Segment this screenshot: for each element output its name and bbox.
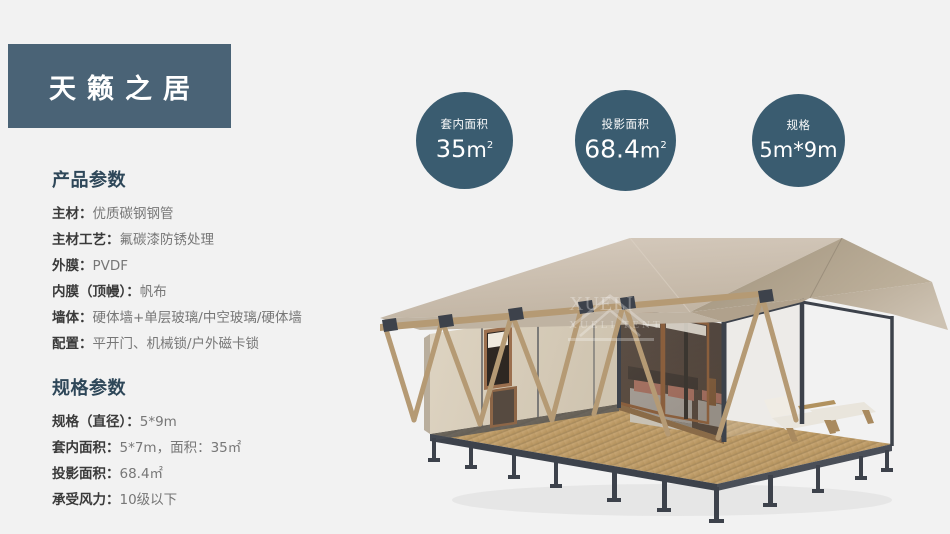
- spec-key: 主材：: [52, 206, 93, 222]
- spec-key: 内膜（顶幔）：: [52, 284, 140, 300]
- badge-dimensions: 规格 5m*9m: [752, 94, 845, 187]
- spec-key: 主材工艺：: [52, 232, 120, 248]
- badge-value: 35m2: [436, 132, 493, 164]
- spec-value: 5*7m，面积：35㎡: [120, 440, 242, 456]
- badge-interior-area: 套内面积 35m2: [416, 92, 513, 189]
- spec-key: 规格（直径）：: [52, 414, 140, 430]
- spec-value: PVDF: [93, 258, 129, 274]
- badge-value: 5m*9m: [759, 133, 837, 164]
- spec-row: 外膜：PVDF: [52, 253, 382, 279]
- spec-key: 外膜：: [52, 258, 93, 274]
- spec-group-specification: 规格参数 规格（直径）：5*9m 套内面积：5*7m，面积：35㎡ 投影面积：6…: [52, 374, 382, 513]
- spec-row: 配置：平开门、机械锁/户外磁卡锁: [52, 331, 382, 357]
- badge-number: 5m*9m: [759, 138, 837, 162]
- spec-key: 套内面积：: [52, 440, 120, 456]
- page-root: 天籁之居 产品参数 主材：优质碳钢钢管 主材工艺：氟碳漆防锈处理 外膜：PVDF…: [0, 0, 950, 534]
- product-render-3d: XUELI XUELI TENT: [372, 238, 950, 534]
- spec-key: 承受风力：: [52, 492, 120, 508]
- badge-label: 投影面积: [602, 117, 650, 131]
- spec-value: 平开门、机械锁/户外磁卡锁: [93, 336, 260, 352]
- spec-key: 墙体：: [52, 310, 93, 326]
- spec-row: 主材：优质碳钢钢管: [52, 201, 382, 227]
- badge-number: 35: [436, 135, 467, 163]
- badge-superscript: 2: [660, 140, 666, 151]
- spec-value: 68.4㎡: [120, 466, 164, 482]
- spec-key: 配置：: [52, 336, 93, 352]
- badge-projected-area: 投影面积 68.4m2: [575, 90, 676, 191]
- spec-row: 内膜（顶幔）：帆布: [52, 279, 382, 305]
- spec-list-specification: 规格（直径）：5*9m 套内面积：5*7m，面积：35㎡ 投影面积：68.4㎡ …: [52, 409, 382, 513]
- badge-group: 套内面积 35m2 投影面积 68.4m2 规格 5m*9m: [412, 90, 872, 194]
- spec-value: 5*9m: [140, 414, 177, 430]
- spec-row: 墙体：硬体墙+单层玻璃/中空玻璃/硬体墙: [52, 305, 382, 331]
- badge-label: 规格: [787, 118, 811, 132]
- spec-row: 投影面积：68.4㎡: [52, 461, 382, 487]
- spec-row: 承受风力：10级以下: [52, 487, 382, 513]
- ground-shadow: [452, 484, 892, 516]
- title-banner: 天籁之居: [8, 44, 231, 128]
- badge-value: 68.4m2: [584, 132, 667, 164]
- title-banner-text: 天籁之居: [38, 67, 201, 106]
- spec-list-product: 主材：优质碳钢钢管 主材工艺：氟碳漆防锈处理 外膜：PVDF 内膜（顶幔）：帆布…: [52, 201, 382, 357]
- badge-label: 套内面积: [441, 117, 489, 131]
- spec-row: 套内面积：5*7m，面积：35㎡: [52, 435, 382, 461]
- badge-number: 68.4: [584, 134, 640, 163]
- spec-row: 规格（直径）：5*9m: [52, 409, 382, 435]
- spec-value: 硬体墙+单层玻璃/中空玻璃/硬体墙: [93, 310, 302, 326]
- spec-row: 主材工艺：氟碳漆防锈处理: [52, 227, 382, 253]
- badge-superscript: 2: [487, 140, 493, 151]
- badge-unit: m: [466, 138, 486, 162]
- spec-value: 优质碳钢钢管: [93, 206, 174, 222]
- spec-value: 10级以下: [120, 492, 178, 508]
- section-heading-specification: 规格参数: [52, 374, 382, 400]
- section-heading-product: 产品参数: [52, 166, 382, 192]
- tent-roof: [380, 238, 948, 330]
- spec-value: 氟碳漆防锈处理: [120, 232, 215, 248]
- badge-unit: m: [640, 138, 660, 162]
- spec-group-product: 产品参数 主材：优质碳钢钢管 主材工艺：氟碳漆防锈处理 外膜：PVDF 内膜（顶…: [52, 166, 382, 357]
- spec-key: 投影面积：: [52, 466, 120, 482]
- spec-panel: 产品参数 主材：优质碳钢钢管 主材工艺：氟碳漆防锈处理 外膜：PVDF 内膜（顶…: [52, 166, 382, 513]
- spec-value: 帆布: [140, 284, 167, 300]
